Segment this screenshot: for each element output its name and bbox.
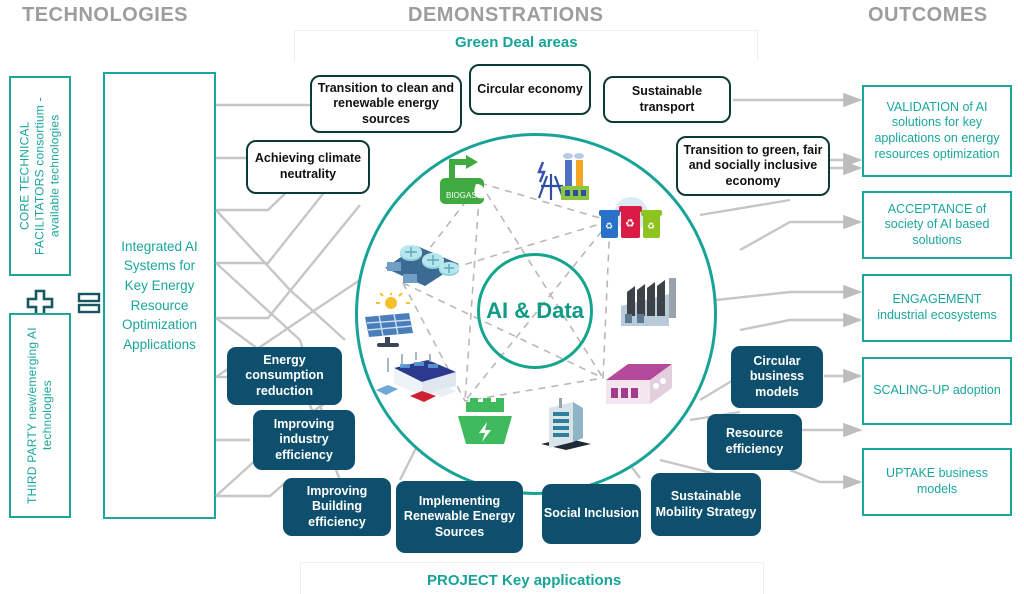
key-app-social-inclusion-label: Social Inclusion [544, 506, 639, 522]
office-building-icon [535, 398, 597, 461]
key-app-circular-business-models[interactable]: Circular business models [731, 346, 823, 408]
key-app-improving-industry-efficiency[interactable]: Improving industry efficiency [253, 410, 355, 470]
green-deal-box-green-fair-inclusive-economy-label: Transition to green, fair and socially i… [678, 143, 828, 190]
green-deal-box-circular-economy-label: Circular economy [477, 82, 583, 98]
green-deal-box-clean-renewable-energy[interactable]: Transition to clean and renewable energy… [310, 75, 462, 133]
ai-and-data-core: AI & Data [477, 253, 593, 369]
key-app-energy-consumption-reduction[interactable]: Energy consumption reduction [227, 347, 342, 405]
water-treatment-plant-icon [375, 236, 463, 297]
key-app-social-inclusion[interactable]: Social Inclusion [542, 484, 641, 544]
recycling-bins-icon: ♻ ♻ ♻ [598, 196, 664, 257]
warehouse-icon [598, 358, 676, 417]
green-deal-box-circular-economy[interactable]: Circular economy [469, 64, 591, 115]
biogas-plant-icon: BIOGAS [432, 148, 494, 215]
ev-charging-station-icon [370, 352, 462, 415]
power-plant-icon [525, 146, 591, 211]
green-deal-box-climate-neutrality-label: Achieving climate neutrality [248, 151, 368, 182]
green-deal-box-clean-renewable-energy-label: Transition to clean and renewable energy… [312, 81, 460, 128]
svg-text:♻: ♻ [605, 221, 613, 231]
key-app-improving-building-efficiency-label: Improving Building efficiency [283, 484, 391, 531]
key-app-resource-efficiency[interactable]: Resource efficiency [707, 414, 802, 470]
key-app-sustainable-mobility-strategy-label: Sustainable Mobility Strategy [651, 489, 761, 520]
key-app-improving-industry-efficiency-label: Improving industry efficiency [253, 417, 355, 464]
key-app-energy-consumption-reduction-label: Energy consumption reduction [227, 353, 342, 400]
key-app-implementing-renewable-energy-sources[interactable]: Implementing Renewable Energy Sources [396, 481, 523, 553]
green-deal-box-climate-neutrality[interactable]: Achieving climate neutrality [246, 140, 370, 194]
key-app-improving-building-efficiency[interactable]: Improving Building efficiency [283, 478, 391, 536]
diagram-canvas: TECHNOLOGIES DEMONSTRATIONS OUTCOMES Gre… [0, 0, 1024, 593]
key-app-implementing-renewable-energy-sources-label: Implementing Renewable Energy Sources [396, 494, 523, 541]
key-app-circular-business-models-label: Circular business models [731, 354, 823, 401]
green-deal-box-sustainable-transport[interactable]: Sustainable transport [603, 76, 731, 123]
solar-panel-icon [361, 293, 417, 352]
factory-icon [615, 270, 683, 337]
ai-and-data-label: AI & Data [486, 298, 584, 323]
svg-text:BIOGAS: BIOGAS [446, 191, 477, 200]
svg-text:♻: ♻ [647, 221, 655, 231]
green-deal-box-sustainable-transport-label: Sustainable transport [605, 84, 729, 115]
green-deal-box-green-fair-inclusive-economy[interactable]: Transition to green, fair and socially i… [676, 136, 830, 196]
svg-text:♻: ♻ [625, 218, 635, 230]
key-app-sustainable-mobility-strategy[interactable]: Sustainable Mobility Strategy [651, 473, 761, 536]
key-app-resource-efficiency-label: Resource efficiency [707, 426, 802, 457]
